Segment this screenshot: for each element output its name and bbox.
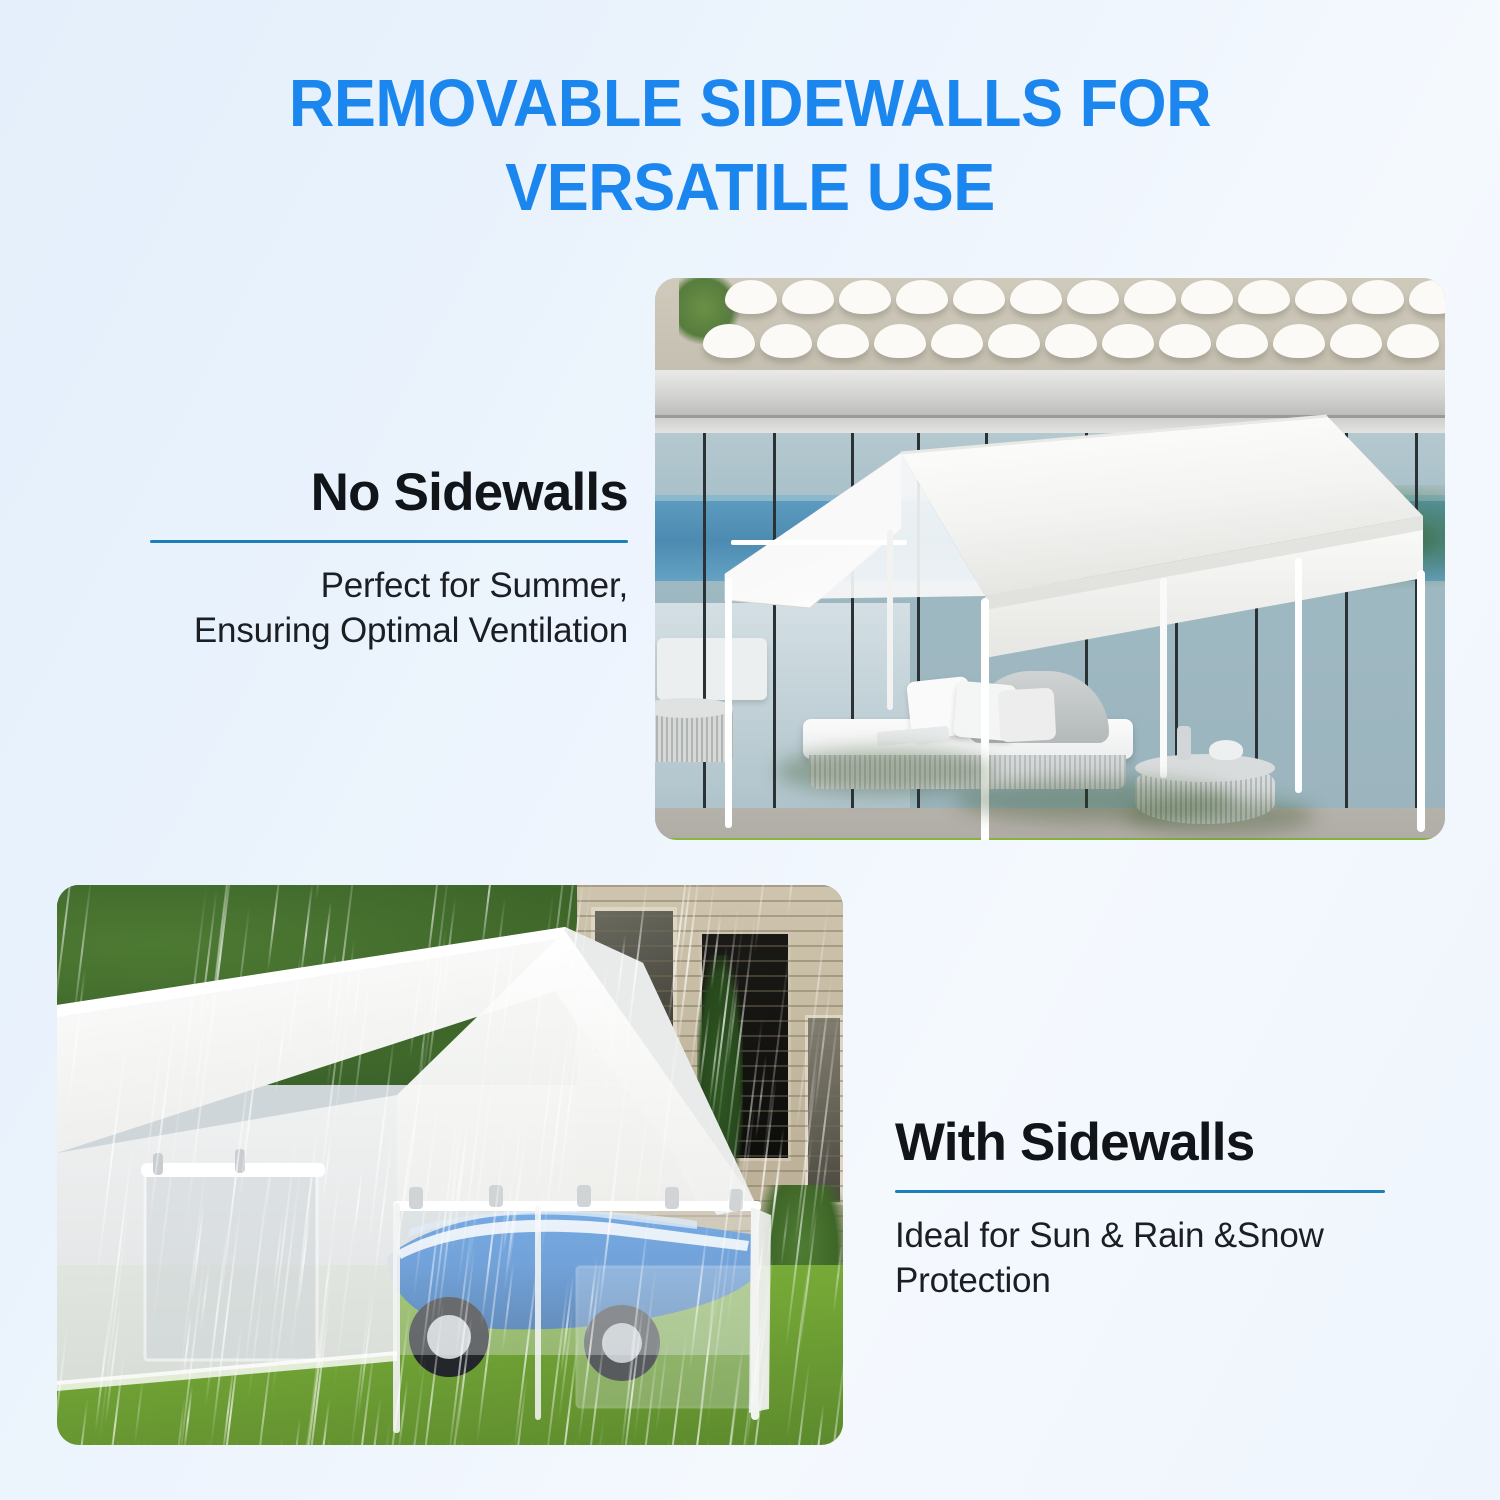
promo-page: REMOVABLE SIDEWALLS FOR VERSATILE USE xyxy=(0,0,1500,1500)
feature-description-with-sidewalls: Ideal for Sun & Rain &Snow Protection xyxy=(895,1213,1395,1303)
canopy-tent-no-sidewalls xyxy=(655,278,1445,840)
feature-block-no-sidewalls: No Sidewalls Perfect for Summer, Ensurin… xyxy=(100,462,628,653)
page-title: REMOVABLE SIDEWALLS FOR VERSATILE USE xyxy=(45,62,1455,230)
feature-block-with-sidewalls: With Sidewalls Ideal for Sun & Rain &Sno… xyxy=(895,1112,1395,1303)
feature-description-no-sidewalls: Perfect for Summer, Ensuring Optimal Ven… xyxy=(100,563,628,653)
carport-tent-with-sidewalls xyxy=(57,885,843,1445)
photo-no-sidewalls xyxy=(655,278,1445,840)
carport-rain-scene xyxy=(57,885,843,1445)
title-divider xyxy=(150,540,628,543)
canopy-summer-scene xyxy=(655,278,1445,840)
feature-title-no-sidewalls: No Sidewalls xyxy=(100,462,628,524)
title-divider xyxy=(895,1190,1385,1193)
feature-title-with-sidewalls: With Sidewalls xyxy=(895,1112,1395,1174)
photo-with-sidewalls xyxy=(57,885,843,1445)
